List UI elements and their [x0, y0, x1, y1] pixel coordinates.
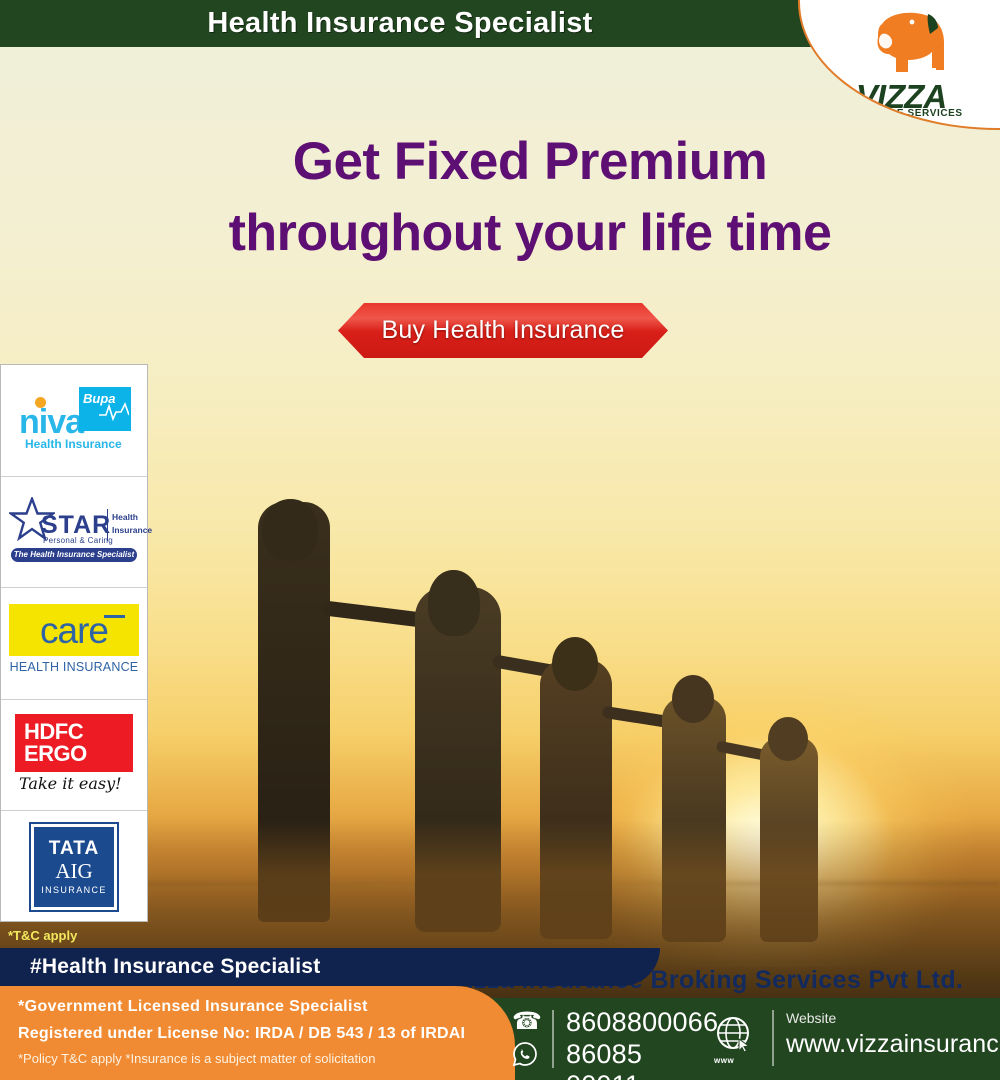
- whatsapp-icon: [512, 1041, 538, 1067]
- www-label: www: [714, 1056, 734, 1065]
- phone-number[interactable]: 8608800066: [566, 1007, 718, 1038]
- care-yellow-box: care: [9, 604, 139, 656]
- contact-website-block[interactable]: www Website www.vizzainsurance.com: [712, 1008, 1000, 1072]
- tata-blue-box: TATA AIG INSURANCE: [31, 824, 117, 910]
- whatsapp-number[interactable]: 86085 00011: [566, 1039, 712, 1080]
- silhouette-girl-head: [552, 637, 598, 691]
- globe-icon: [712, 1014, 756, 1056]
- hdfc-line-2: ERGO: [24, 743, 87, 765]
- silhouette-toddler-head: [768, 717, 808, 761]
- bupa-box: Bupa: [79, 387, 131, 431]
- hdfc-tagline: Take it easy!: [19, 774, 122, 793]
- elephant-icon: [852, 8, 962, 80]
- telephone-icon: ☎: [512, 1010, 542, 1034]
- website-label: Website: [786, 1010, 836, 1026]
- cta-label: Buy Health Insurance: [381, 316, 624, 345]
- star-tagline: The Health Insurance Specialist: [11, 548, 137, 562]
- website-divider: [772, 1010, 774, 1066]
- care-macron-icon: [104, 615, 125, 618]
- care-wordmark: care: [40, 612, 108, 649]
- phone-divider: [552, 1010, 554, 1068]
- partner-logo-star-health[interactable]: STAR Personal & Caring Health Insurance …: [1, 477, 147, 589]
- tata-line-3: INSURANCE: [41, 885, 107, 895]
- footer-navy-band: #Health Insurance Specialist: [0, 948, 660, 986]
- star-subtitle: Personal & Caring: [43, 536, 113, 545]
- partner-logo-niva-bupa[interactable]: niva Bupa Health Insurance: [1, 365, 147, 477]
- policy-note: *Policy T&C apply *Insurance is a subjec…: [18, 1051, 375, 1066]
- star-side-line-1: Health: [112, 511, 152, 524]
- headline-line-1: Get Fixed Premium: [150, 125, 910, 198]
- license-number: Registered under License No: IRDA / DB 5…: [18, 1025, 465, 1043]
- star-divider: [107, 509, 108, 541]
- hashtag-label: #Health Insurance Specialist: [30, 948, 320, 986]
- tc-apply-note: *T&C apply: [8, 928, 77, 943]
- star-side-text: Health Insurance: [112, 511, 152, 537]
- hdfc-red-box: HDFC ERGO: [15, 714, 133, 772]
- header-title: Health Insurance Specialist: [0, 0, 800, 47]
- partner-logo-care-health[interactable]: care HEALTH INSURANCE: [1, 588, 147, 700]
- heartbeat-icon: [99, 401, 129, 421]
- partner-logo-panel: niva Bupa Health Insurance STAR Personal…: [0, 364, 148, 922]
- silhouette-man-head: [262, 499, 318, 561]
- website-url[interactable]: www.vizzainsurance.com: [786, 1030, 1000, 1059]
- brand-logo-badge: VIZZA INSURANCE SERVICES: [798, 0, 1000, 130]
- advertisement-poster: Health Insurance Specialist VIZZA INSURA…: [0, 0, 1000, 1080]
- partner-logo-tata-aig[interactable]: TATA AIG INSURANCE: [1, 811, 147, 923]
- hero-headline: Get Fixed Premium throughout your life t…: [150, 125, 910, 270]
- headline-line-2: throughout your life time: [150, 198, 910, 270]
- contact-phone-block[interactable]: ☎ 8608800066 86085 00011: [512, 1008, 712, 1072]
- care-subtitle: HEALTH INSURANCE: [9, 660, 139, 674]
- brand-tagline: INSURANCE SERVICES: [800, 108, 1000, 119]
- cta-container: Buy Health Insurance: [338, 303, 668, 358]
- licensed-line: *Government Licensed Insurance Specialis…: [18, 998, 368, 1016]
- silhouette-woman-head: [428, 570, 480, 636]
- tata-line-2: AIG: [55, 860, 92, 882]
- hdfc-line-1: HDFC: [24, 721, 83, 743]
- silhouette-child-head: [672, 675, 714, 723]
- partner-logo-hdfc-ergo[interactable]: HDFC ERGO Take it easy!: [1, 700, 147, 812]
- footer-orange-panel: *Government Licensed Insurance Specialis…: [0, 986, 515, 1080]
- buy-health-insurance-button[interactable]: Buy Health Insurance: [338, 303, 668, 358]
- star-side-line-2: Insurance: [112, 524, 152, 537]
- niva-subtitle: Health Insurance: [25, 437, 122, 451]
- tata-line-1: TATA: [49, 839, 99, 860]
